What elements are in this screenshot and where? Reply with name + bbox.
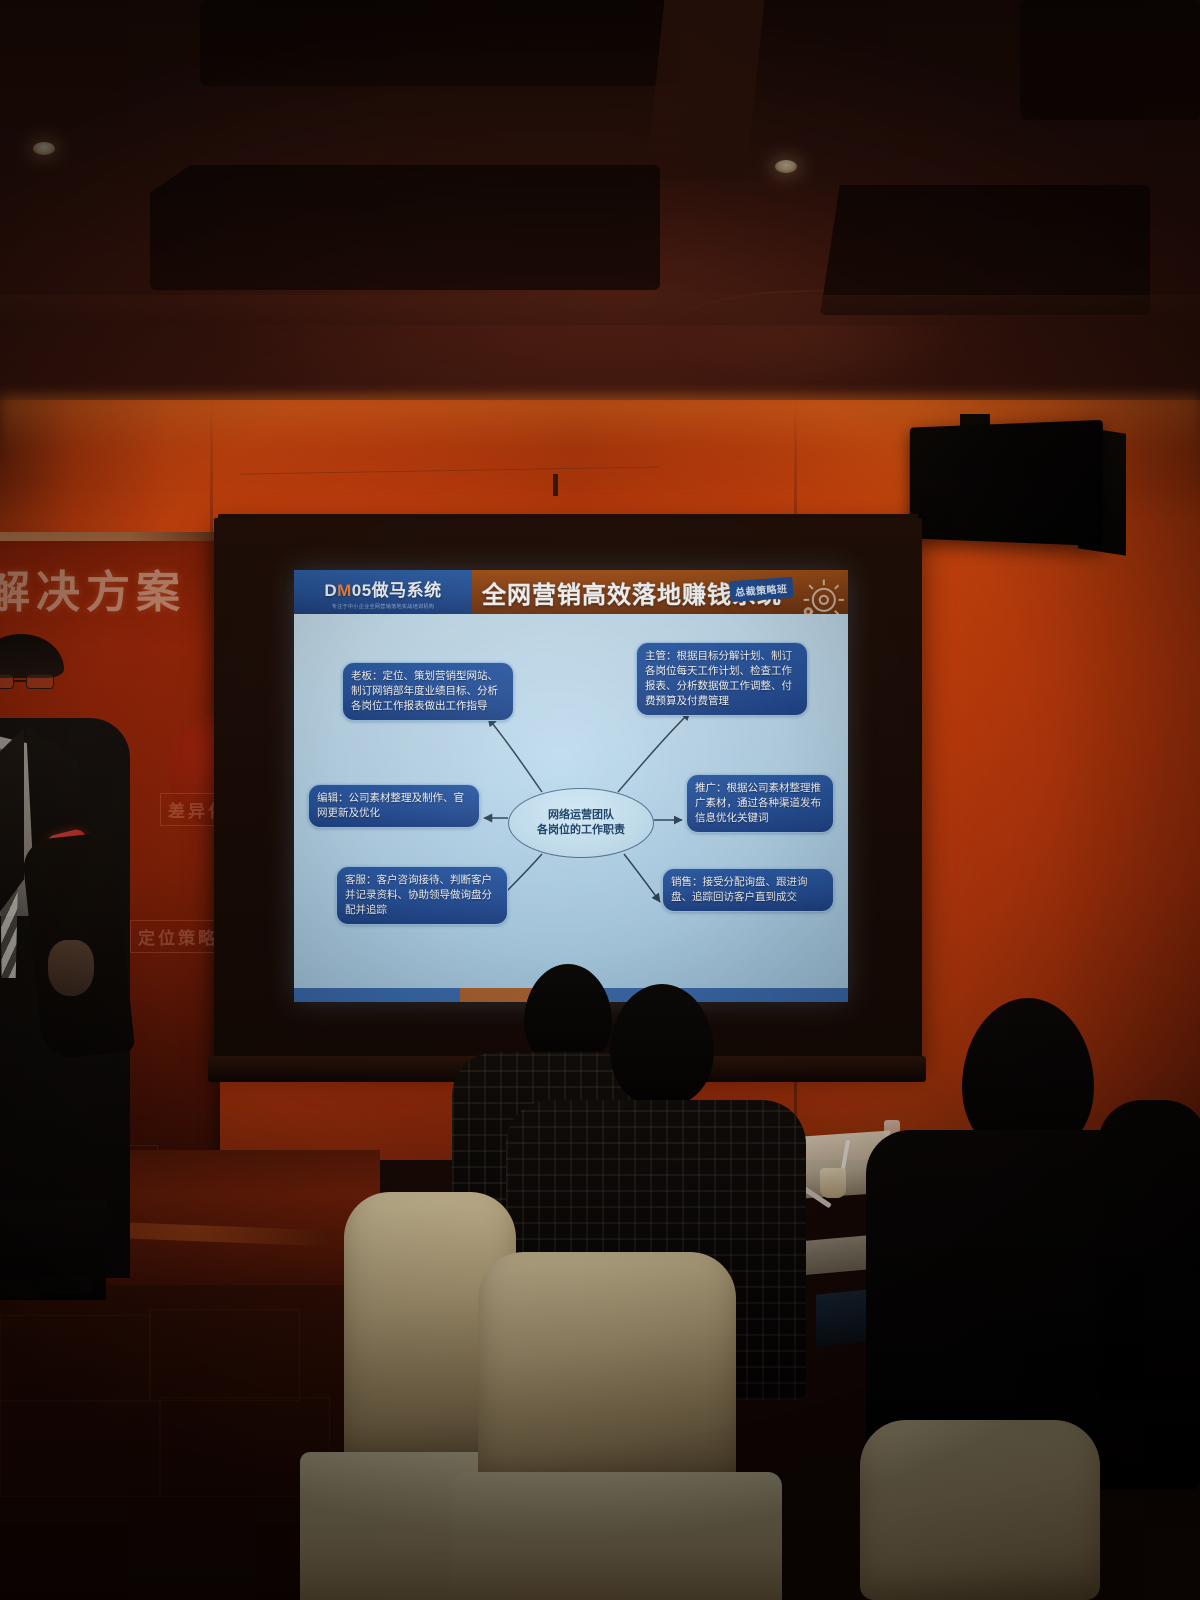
chair-skirt: [452, 1472, 782, 1600]
diagram-node-sales: 销售：接受分配询盘、跟进询盘、追踪回访客户直到成交: [662, 868, 834, 912]
screen-hook: [553, 474, 558, 496]
banner-headline: 解决方案: [0, 556, 186, 620]
presenter-shoe: [36, 1276, 92, 1294]
logo-suffix: 05做马系统: [352, 581, 442, 600]
ceiling-coffer: [150, 165, 660, 290]
floor-tile: [0, 1401, 160, 1497]
glasses-icon: [0, 674, 58, 690]
ceiling-downlight-icon: [775, 160, 797, 173]
presenter: [0, 640, 170, 1320]
slide-badge: 总裁策略班: [729, 577, 793, 602]
floor-tile: [150, 1309, 300, 1401]
slide-body: 老板：定位、策划营销型网站、制订网销部年度业绩目标、分析各岗位工作报表做出工作指…: [294, 614, 848, 1002]
audience-chair[interactable]: [478, 1252, 736, 1490]
ceiling-coffer: [1020, 0, 1200, 120]
slide-header: DM05做马系统 专注于中小企业全网营销落地实战培训机构 全网营销高效落地赚钱系…: [294, 570, 848, 614]
diagram-center-node: 网络运营团队 各岗位的工作职责: [508, 788, 654, 858]
diagram-node-customer-service: 客服：客户咨询接待、判断客户并记录资料、协助领导做询盘分配并追踪: [336, 866, 508, 925]
audience-torso: [1098, 1100, 1200, 1400]
floor-tile: [0, 1315, 150, 1401]
slide-title-bar: 全网营销高效落地赚钱系统 总裁策略班: [472, 570, 848, 614]
audience-chair[interactable]: [860, 1420, 1100, 1600]
diagram-node-manager: 主管：根据目标分解计划、制订各岗位每天工作计划、检查工作报表、分析数据做工作调整…: [636, 642, 808, 716]
diagram-node-editor: 编辑：公司素材整理及制作、官网更新及优化: [308, 784, 480, 828]
logo-prefix: D: [324, 581, 337, 600]
brand-logo-subtitle: 专注于中小企业全网营销落地实战培训机构: [332, 603, 435, 610]
ceiling-downlight-icon: [33, 142, 55, 155]
brand-logo: DM05做马系统 专注于中小企业全网营销落地实战培训机构: [294, 570, 472, 614]
presenter-hair: [0, 634, 64, 678]
conference-room-photo: 解决方案 差异化 定位策略 营销方案 DM05做马系统 专注于中小企业全网营销落…: [0, 0, 1200, 1600]
drink-cup: [820, 1168, 846, 1198]
presentation-slide: DM05做马系统 专注于中小企业全网营销落地实战培训机构 全网营销高效落地赚钱系…: [294, 570, 848, 1002]
center-line-2: 各岗位的工作职责: [537, 823, 625, 838]
presenter-hand: [48, 940, 94, 996]
ceiling-beam: [646, 0, 765, 180]
logo-accent: M: [337, 581, 352, 600]
brand-logo-text: DM05做马系统: [324, 576, 441, 601]
paper-sheet: [801, 1235, 876, 1275]
ceiling-coffer: [200, 0, 680, 86]
diagram-node-boss: 老板：定位、策划营销型网站、制订网销部年度业绩目标、分析各岗位工作报表做出工作指…: [342, 662, 514, 721]
banner-trim: [0, 532, 220, 541]
diagram-node-promotion: 推广：根据公司素材整理推广素材，通过各种渠道发布信息优化关键词: [686, 774, 834, 833]
ceiling: [0, 0, 1200, 420]
center-line-1: 网络运营团队: [548, 808, 614, 823]
wall-speaker: [910, 420, 1103, 546]
ceiling-beam: [0, 295, 1200, 325]
